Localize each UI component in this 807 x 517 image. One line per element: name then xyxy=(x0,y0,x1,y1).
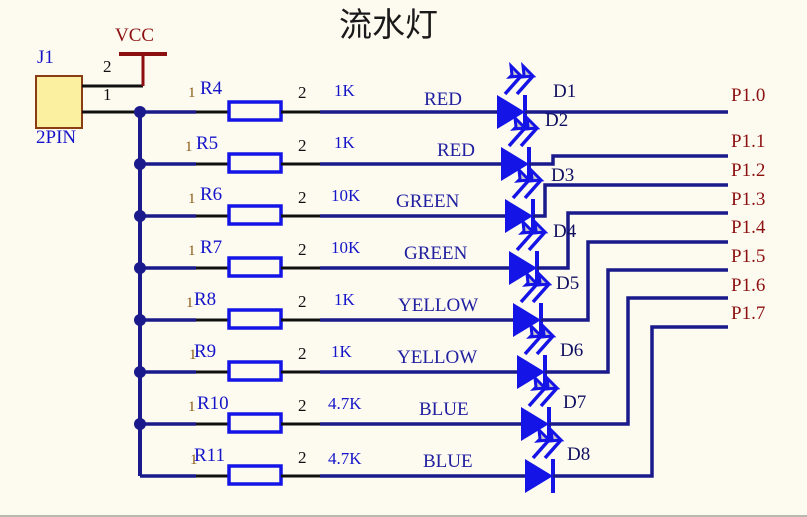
connector-footprint: 2PIN xyxy=(36,128,76,147)
r5-pin2-number: 2 xyxy=(298,137,307,154)
r10-value: 4.7K xyxy=(328,395,362,412)
port-label-p1-4: P1.4 xyxy=(731,218,765,237)
power-label-vcc: VCC xyxy=(115,26,154,45)
net-label-yellow-1: YELLOW xyxy=(398,296,478,315)
r4-pin2-number: 2 xyxy=(298,84,307,101)
port-label-p1-6: P1.6 xyxy=(731,276,765,295)
led-ref-d7: D7 xyxy=(563,393,586,412)
connector-ref-j1: J1 xyxy=(37,48,54,67)
r6-value: 10K xyxy=(331,187,360,204)
led-ref-d1: D1 xyxy=(553,82,576,101)
net-label-green-2: GREEN xyxy=(404,244,467,263)
net-label-blue-1: BLUE xyxy=(419,400,469,419)
r10-pin1-number: 1 xyxy=(188,400,196,415)
wire-net-p1-1 xyxy=(529,156,728,164)
led-ref-d5: D5 xyxy=(556,274,579,293)
connector-pin-1-number: 1 xyxy=(103,86,112,103)
schematic-canvas: 流水灯 J1 2PIN 2 1 VCC 1 R4 2 1K RED D1 P1.… xyxy=(0,0,807,517)
r9-pin2-number: 2 xyxy=(298,345,307,362)
r6-pin2-number: 2 xyxy=(298,189,307,206)
wire-bus-branches xyxy=(140,112,196,476)
r9-value: 1K xyxy=(331,343,352,360)
r11-ref: R11 xyxy=(194,446,225,465)
r4-pin1-number: 1 xyxy=(188,86,196,101)
r6-pin1-number: 1 xyxy=(188,192,196,207)
port-label-p1-3: P1.3 xyxy=(731,190,765,209)
r11-value: 4.7K xyxy=(328,450,362,467)
r5-ref: R5 xyxy=(196,134,218,153)
r7-pin2-number: 2 xyxy=(298,241,307,258)
led-ref-d6: D6 xyxy=(560,341,583,360)
connector-pin-2-number: 2 xyxy=(103,58,112,75)
r5-pin1-number: 1 xyxy=(185,140,193,155)
r8-value: 1K xyxy=(334,291,355,308)
led-ref-d3: D3 xyxy=(551,166,574,185)
port-label-p1-5: P1.5 xyxy=(731,247,765,266)
connector-j1-body xyxy=(36,76,82,128)
sheet-title: 流水灯 xyxy=(339,8,438,41)
r9-ref: R9 xyxy=(194,342,216,361)
port-label-p1-0: P1.0 xyxy=(731,86,765,105)
net-label-green-1: GREEN xyxy=(396,192,459,211)
port-label-p1-2: P1.2 xyxy=(731,161,765,180)
net-label-yellow-2: YELLOW xyxy=(397,348,477,367)
r4-value: 1K xyxy=(334,82,355,99)
net-label-red-1: RED xyxy=(424,90,462,109)
r6-ref: R6 xyxy=(200,185,222,204)
r11-pin2-number: 2 xyxy=(298,449,307,466)
net-label-blue-2: BLUE xyxy=(423,452,473,471)
r4-ref: R4 xyxy=(200,79,222,98)
r8-pin1-number: 1 xyxy=(186,296,194,311)
led-ref-d2: D2 xyxy=(545,111,568,130)
r10-pin2-number: 2 xyxy=(298,397,307,414)
port-label-p1-1: P1.1 xyxy=(731,132,765,151)
port-label-p1-7: P1.7 xyxy=(731,304,765,323)
r10-ref: R10 xyxy=(197,394,229,413)
net-label-red-2: RED xyxy=(437,141,475,160)
r8-ref: R8 xyxy=(194,290,216,309)
r8-pin2-number: 2 xyxy=(298,293,307,310)
led-ref-d4: D4 xyxy=(553,222,576,241)
r7-value: 10K xyxy=(331,239,360,256)
led-d8 xyxy=(525,430,561,493)
r7-pin1-number: 1 xyxy=(188,244,196,259)
led-ref-d8: D8 xyxy=(567,445,590,464)
r5-value: 1K xyxy=(334,134,355,151)
resistor-row-wires xyxy=(196,102,525,484)
r7-ref: R7 xyxy=(200,238,222,257)
